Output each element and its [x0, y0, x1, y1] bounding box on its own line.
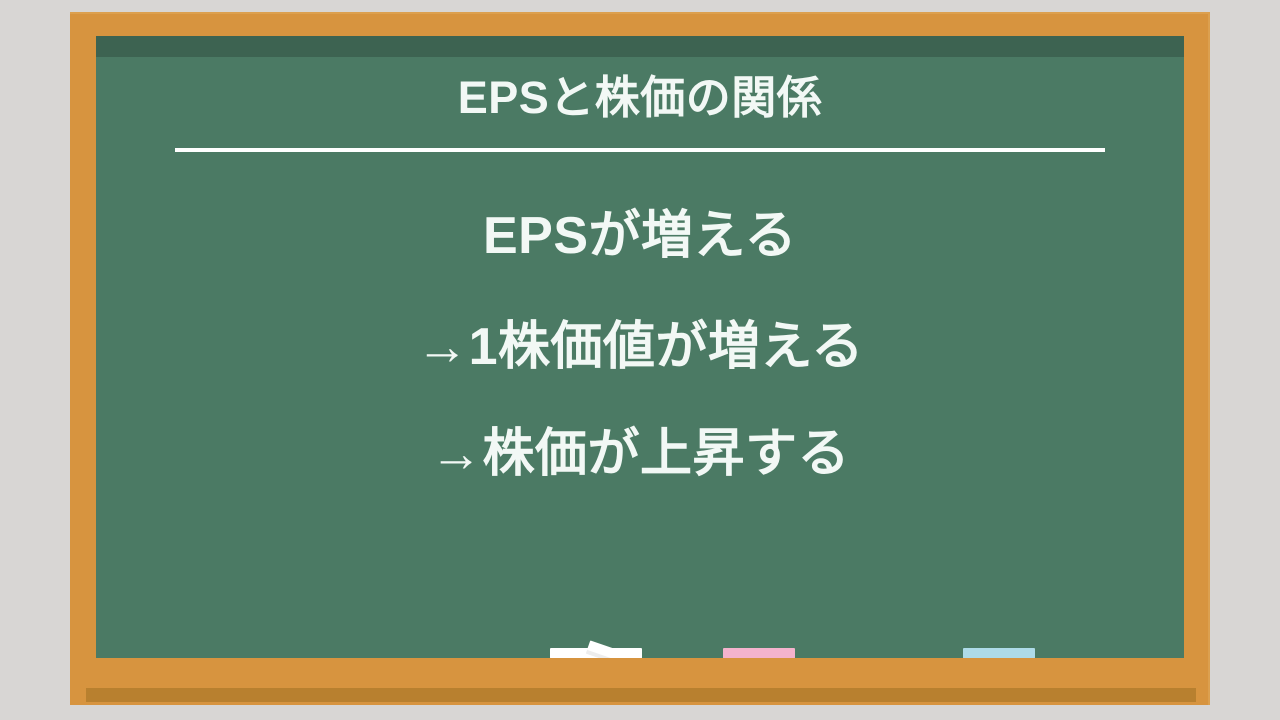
body-line-3: →株価が上昇する	[96, 426, 1184, 483]
blue-chalk-icon	[963, 648, 1035, 658]
chalk-tray-shadow	[86, 688, 1196, 702]
chalk-tray	[86, 658, 1196, 692]
slide-title: EPSと株価の関係	[96, 36, 1184, 124]
body-line-2: →1株価値が増える	[96, 319, 1184, 376]
title-area: EPSと株価の関係	[96, 36, 1184, 124]
chalkboard-surface: EPSと株価の関係 EPSが増える →1株価値が増える →株価が上昇する	[96, 36, 1184, 658]
pink-chalk-icon	[723, 648, 795, 658]
body-line-1: EPSが増える	[96, 208, 1184, 265]
slide-canvas: EPSと株価の関係 EPSが増える →1株価値が増える →株価が上昇する	[0, 0, 1280, 720]
title-underline-rule	[175, 148, 1105, 152]
body-text-block: EPSが増える →1株価値が増える →株価が上昇する	[96, 208, 1184, 484]
